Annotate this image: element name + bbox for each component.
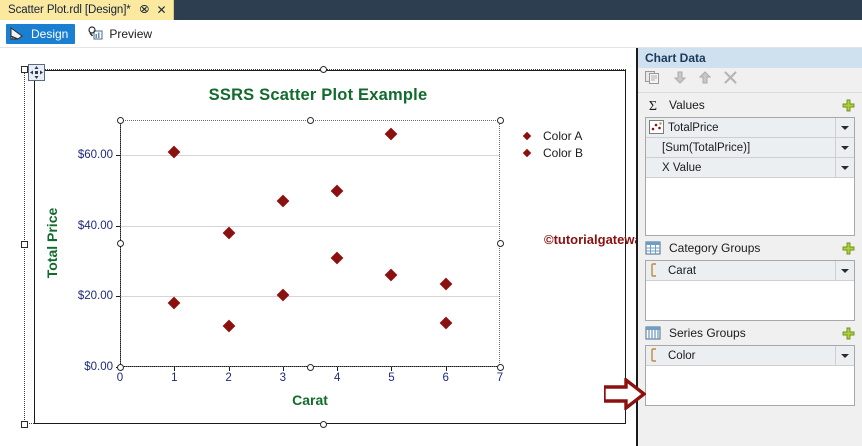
gridline xyxy=(120,296,500,297)
close-icon[interactable]: ✕ xyxy=(157,4,167,16)
resize-handle-left-middle[interactable] xyxy=(21,241,28,248)
x-tick xyxy=(337,366,338,371)
y-tick-label: $40.00 xyxy=(78,220,113,232)
list-item[interactable]: [Sum(TotalPrice)] xyxy=(646,138,854,158)
list-item-label: Carat xyxy=(668,265,835,277)
x-tick xyxy=(283,366,284,371)
preview-button[interactable]: Preview xyxy=(84,24,159,44)
chart-legend[interactable]: Color AColor B xyxy=(524,127,583,161)
section-header-series-groups: Series Groups xyxy=(638,321,862,345)
preview-button-label: Preview xyxy=(109,27,152,41)
svg-text:Σ: Σ xyxy=(649,99,657,113)
plot-handle-top-left[interactable] xyxy=(117,117,124,124)
view-toolbar: Design Preview xyxy=(0,20,862,48)
tab-scatter-plot-rdl[interactable]: Scatter Plot.rdl [Design]* ⮿ ✕ xyxy=(0,0,174,20)
ssrs-report-designer: Scatter Plot.rdl [Design]* ⮿ ✕ Design xyxy=(0,0,862,446)
y-tick-label: $0.00 xyxy=(84,361,113,373)
move-up-icon[interactable] xyxy=(699,71,711,89)
x-tick-label: 2 xyxy=(225,372,231,384)
data-point xyxy=(385,128,398,141)
legend-marker-icon xyxy=(523,148,531,156)
y-tick xyxy=(116,155,121,156)
y-axis-title[interactable]: Total Price xyxy=(44,208,60,279)
gridline xyxy=(120,155,500,156)
plot-handle-left-middle[interactable] xyxy=(117,240,124,247)
section-header-values: ΣValues xyxy=(638,93,862,117)
chevron-down-icon[interactable] xyxy=(835,346,854,365)
category-groups-icon xyxy=(645,240,661,256)
list-item-label: X Value xyxy=(662,162,835,174)
x-tick-label: 3 xyxy=(280,372,286,384)
x-tick xyxy=(229,366,230,371)
chart-title: SSRS Scatter Plot Example xyxy=(0,86,636,105)
x-tick-label: 0 xyxy=(117,372,123,384)
listbox-values[interactable]: TotalPrice[Sum(TotalPrice)]X Value xyxy=(645,117,855,236)
listbox-series-groups[interactable]: Color xyxy=(645,345,855,406)
list-item-label: [Sum(TotalPrice)] xyxy=(662,142,835,154)
list-item-label: Color xyxy=(668,350,835,362)
listbox-empty-area[interactable] xyxy=(646,366,854,405)
preview-icon xyxy=(87,25,104,42)
data-point xyxy=(222,227,235,240)
legend-label: Color B xyxy=(543,146,583,160)
add-icon[interactable] xyxy=(842,99,855,112)
delete-icon[interactable] xyxy=(724,71,737,89)
chevron-down-icon[interactable] xyxy=(835,118,854,137)
resize-handle-top-left[interactable] xyxy=(21,66,28,73)
plot-area[interactable]: $0.00$20.00$40.00$60.00 01234567 xyxy=(120,120,500,367)
x-tick-label: 5 xyxy=(388,372,394,384)
list-item-label: TotalPrice xyxy=(668,122,835,134)
y-tick xyxy=(116,226,121,227)
scatter-chart-icon xyxy=(649,120,664,135)
group-icon xyxy=(649,263,664,278)
list-item[interactable]: TotalPrice xyxy=(646,118,854,138)
data-point xyxy=(439,278,452,291)
resize-handle-bottom-left[interactable] xyxy=(21,421,28,428)
plot-handle-top-right[interactable] xyxy=(497,117,504,124)
x-tick-label: 7 xyxy=(497,372,503,384)
data-point xyxy=(222,320,235,333)
data-point xyxy=(385,269,398,282)
section-label: Category Groups xyxy=(669,241,842,255)
y-tick-label: $60.00 xyxy=(78,149,113,161)
x-tick-label: 6 xyxy=(443,372,449,384)
data-point xyxy=(331,251,344,264)
listbox-category-groups[interactable]: Carat xyxy=(645,260,855,321)
move-down-icon[interactable] xyxy=(674,71,686,89)
legend-marker-icon xyxy=(523,131,531,139)
legend-item: Color B xyxy=(524,144,583,161)
x-tick-label: 4 xyxy=(334,372,340,384)
plot-handle-bottom-right[interactable] xyxy=(497,364,504,371)
legend-item: Color A xyxy=(524,127,583,144)
design-button[interactable]: Design xyxy=(6,24,75,44)
panel-title: Chart Data xyxy=(645,51,706,65)
chart-data-panel: Chart Data xyxy=(636,48,862,446)
section-header-category-groups: Category Groups xyxy=(638,236,862,260)
plot-handle-right-middle[interactable] xyxy=(497,240,504,247)
chevron-down-icon[interactable] xyxy=(835,158,854,177)
x-tick xyxy=(174,366,175,371)
plot-handle-bottom-center[interactable] xyxy=(307,364,314,371)
y-tick-label: $20.00 xyxy=(78,290,113,302)
resize-handle-top-center[interactable] xyxy=(320,66,327,73)
chart-data-panel-header: Chart Data xyxy=(638,48,862,68)
plot-handle-top-center[interactable] xyxy=(307,117,314,124)
resize-handle-bottom-center[interactable] xyxy=(320,421,327,428)
section-label: Values xyxy=(669,98,842,112)
listbox-empty-area[interactable] xyxy=(646,178,854,235)
chart-move-handle[interactable] xyxy=(28,64,45,81)
tab-strip: Scatter Plot.rdl [Design]* ⮿ ✕ xyxy=(0,0,862,20)
plot-handle-bottom-left[interactable] xyxy=(117,364,124,371)
data-point xyxy=(331,184,344,197)
data-point xyxy=(276,288,289,301)
design-button-label: Design xyxy=(31,27,68,41)
section-label: Series Groups xyxy=(669,326,842,340)
tab-label: Scatter Plot.rdl [Design]* xyxy=(8,4,131,16)
add-icon[interactable] xyxy=(842,242,855,255)
series-groups-icon xyxy=(645,325,661,341)
chevron-down-icon[interactable] xyxy=(835,138,854,157)
data-point xyxy=(276,195,289,208)
x-axis-title[interactable]: Carat xyxy=(292,392,328,408)
list-item[interactable]: X Value xyxy=(646,158,854,178)
design-icon xyxy=(9,25,26,42)
data-point xyxy=(439,317,452,330)
panel-toolbar xyxy=(638,68,862,93)
properties-icon[interactable] xyxy=(645,70,661,90)
group-icon xyxy=(649,348,664,363)
x-tick xyxy=(391,366,392,371)
list-item[interactable]: Carat xyxy=(646,261,854,281)
chevron-down-icon[interactable] xyxy=(835,261,854,280)
x-tick xyxy=(446,366,447,371)
listbox-empty-area[interactable] xyxy=(646,281,854,320)
data-point xyxy=(168,297,181,310)
add-icon[interactable] xyxy=(842,327,855,340)
legend-label: Color A xyxy=(543,129,582,143)
red-arrow-annotation xyxy=(604,378,646,415)
sigma-icon: Σ xyxy=(645,97,661,113)
gridline xyxy=(120,226,500,227)
list-item[interactable]: Color xyxy=(646,346,854,366)
y-tick xyxy=(116,296,121,297)
pin-icon[interactable]: ⮿ xyxy=(139,5,149,16)
x-tick-label: 1 xyxy=(171,372,177,384)
